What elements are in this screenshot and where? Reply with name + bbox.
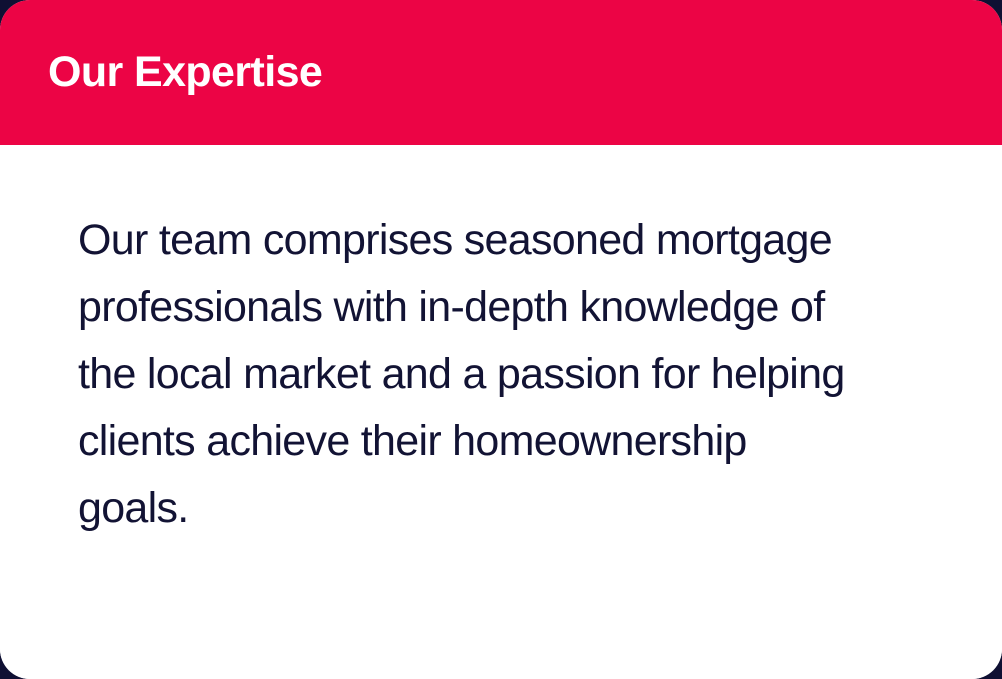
expertise-card: Our Expertise Our team comprises seasone… <box>0 0 1002 679</box>
card-body: Our team comprises seasoned mortgage pro… <box>0 145 1002 679</box>
page-title: Our Expertise <box>48 51 322 94</box>
card-body-paragraph: Our team comprises seasoned mortgage pro… <box>78 207 868 542</box>
card-header: Our Expertise <box>0 0 1002 145</box>
